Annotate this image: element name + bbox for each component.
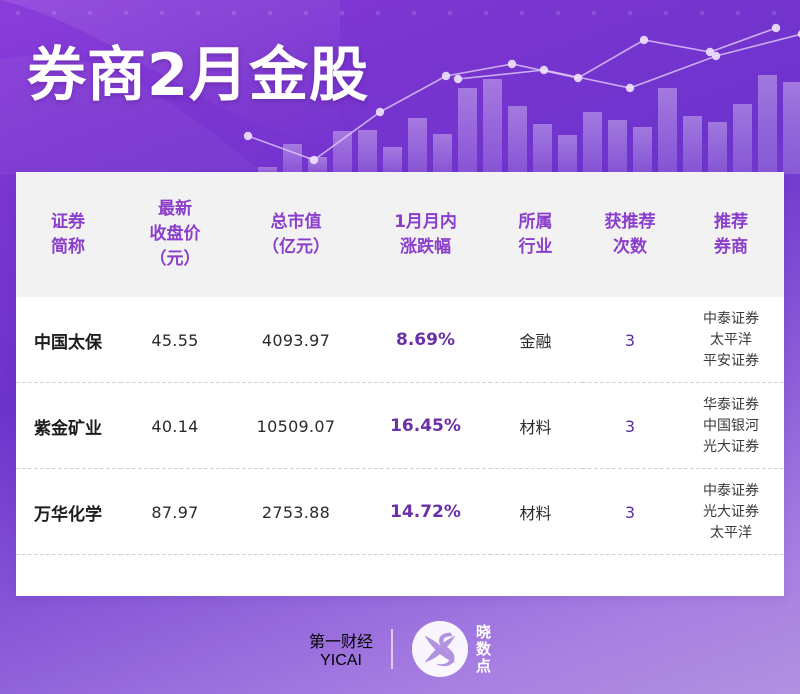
- hero-line-node: [640, 36, 648, 44]
- cell-recommendation-count: 3: [582, 297, 678, 383]
- table-body: 中国太保 45.55 4093.97 8.69% 金融 3 中泰证券 太平洋 平…: [16, 297, 784, 555]
- hero-bar: [458, 88, 477, 174]
- cell-close-price: 45.55: [120, 297, 230, 383]
- hero-line-node: [772, 24, 780, 32]
- cell-brokers: 华泰证券 中国银河 光大证券: [678, 383, 784, 469]
- cell-stock-name: 中国太保: [16, 297, 120, 383]
- table-header-row: 证券 简称 最新 收盘价 （元） 总市值 （亿元） 1月月内 涨跌幅: [16, 172, 784, 297]
- yicai-logo-text: 第一财经: [309, 628, 373, 652]
- hero-dot: [736, 11, 741, 16]
- hero-dot: [232, 11, 237, 16]
- hero-bar: [383, 147, 402, 174]
- hero-dot: [52, 11, 57, 16]
- broker-name: 平安证券: [678, 351, 784, 372]
- hero-bar: [608, 120, 627, 174]
- table-row: 万华化学 87.97 2753.88 14.72% 材料 3 中泰证券 光大证券…: [16, 469, 784, 555]
- hero-bar: [733, 104, 752, 174]
- cell-monthly-change: 16.45%: [362, 383, 489, 469]
- cell-market-cap: 2753.88: [230, 469, 362, 555]
- hero-dot: [376, 11, 381, 16]
- cell-market-cap: 10509.07: [230, 383, 362, 469]
- hero-bar: [758, 75, 777, 174]
- hero-bar: [533, 124, 552, 174]
- cell-industry: 材料: [489, 469, 582, 555]
- col-header-price: 最新 收盘价 （元）: [120, 172, 230, 297]
- hero-dot: [160, 11, 165, 16]
- broker-name: 中泰证券: [678, 481, 784, 502]
- hero-line-node: [508, 60, 516, 68]
- cell-stock-name: 紫金矿业: [16, 383, 120, 469]
- cell-recommendation-count: 3: [582, 383, 678, 469]
- table-header: 证券 简称 最新 收盘价 （元） 总市值 （亿元） 1月月内 涨跌幅: [16, 172, 784, 297]
- cell-monthly-change: 14.72%: [362, 469, 489, 555]
- hero-dot: [196, 11, 201, 16]
- hero-dot: [412, 11, 417, 16]
- hero-bar: [508, 106, 527, 174]
- broker-name: 中泰证券: [678, 309, 784, 330]
- hero-bar: [683, 116, 702, 174]
- data-card: 证券 简称 最新 收盘价 （元） 总市值 （亿元） 1月月内 涨跌幅: [16, 172, 784, 596]
- hero-bar: [783, 82, 800, 174]
- hero-bar: [658, 88, 677, 174]
- yicai-logo-subtext: YICAI: [320, 652, 362, 670]
- hero-bar: [333, 131, 352, 174]
- col-header-change: 1月月内 涨跌幅: [362, 172, 489, 297]
- xiaoshudian-char: 数: [476, 641, 491, 658]
- hero-dot: [268, 11, 273, 16]
- hero-bar: [483, 79, 502, 174]
- hero-line-node: [626, 84, 634, 92]
- xiaoshudian-label: 晓数点: [476, 624, 491, 675]
- hero-line-node: [442, 72, 450, 80]
- hero-bar: [558, 135, 577, 174]
- cell-industry: 材料: [489, 383, 582, 469]
- hero-line-node: [574, 74, 582, 82]
- yicai-logo: 第一财经 YICAI: [309, 628, 373, 670]
- hero-dot: [520, 11, 525, 16]
- col-header-market-cap: 总市值 （亿元）: [230, 172, 362, 297]
- broker-name: 光大证券: [678, 502, 784, 523]
- cell-stock-name: 万华化学: [16, 469, 120, 555]
- broker-name: 太平洋: [678, 330, 784, 351]
- hero-bar: [408, 118, 427, 174]
- hero-line-node: [244, 132, 252, 140]
- hero-dot: [484, 11, 489, 16]
- table-row: 紫金矿业 40.14 10509.07 16.45% 材料 3 华泰证券 中国银…: [16, 383, 784, 469]
- hero-dot: [16, 11, 21, 16]
- col-header-brokers: 推荐 券商: [678, 172, 784, 297]
- col-header-recommendation-count: 获推荐 次数: [582, 172, 678, 297]
- footer-divider: [391, 629, 393, 669]
- hero-dot: [448, 11, 453, 16]
- hero-bar: [433, 134, 452, 174]
- hero-dot: [88, 11, 93, 16]
- broker-name: 华泰证券: [678, 395, 784, 416]
- hero-line-node: [540, 66, 548, 74]
- hero-dot: [304, 11, 309, 16]
- cell-industry: 金融: [489, 297, 582, 383]
- xiaoshudian-char: 点: [476, 658, 491, 675]
- gold-stocks-table: 证券 简称 最新 收盘价 （元） 总市值 （亿元） 1月月内 涨跌幅: [16, 172, 784, 555]
- hero-bar: [708, 122, 727, 174]
- cell-monthly-change: 8.69%: [362, 297, 489, 383]
- infographic-page: 券商2月金股 证券 简称 最新 收盘价 （元）: [0, 0, 800, 694]
- hero-line-node: [712, 52, 720, 60]
- cell-close-price: 40.14: [120, 383, 230, 469]
- broker-name: 光大证券: [678, 437, 784, 458]
- hero-banner: 券商2月金股: [0, 0, 800, 180]
- hero-dot: [772, 11, 777, 16]
- hero-dot: [556, 11, 561, 16]
- hero-dot: [124, 11, 129, 16]
- broker-name: 中国银河: [678, 416, 784, 437]
- hero-dot: [664, 11, 669, 16]
- footer-branding: 第一财经 YICAI 晓数点: [0, 604, 800, 694]
- hero-line-node: [454, 75, 462, 83]
- hero-bar: [358, 130, 377, 174]
- hero-dot: [340, 11, 345, 16]
- hero-bar: [283, 144, 302, 174]
- cell-market-cap: 4093.97: [230, 297, 362, 383]
- col-header-name: 证券 简称: [16, 172, 120, 297]
- hero-bar: [583, 112, 602, 174]
- xiaoshudian-char: 晓: [476, 624, 491, 641]
- hero-dot: [592, 11, 597, 16]
- cell-close-price: 87.97: [120, 469, 230, 555]
- cell-recommendation-count: 3: [582, 469, 678, 555]
- xs-circle-logo-icon: [411, 620, 469, 678]
- page-title: 券商2月金股: [27, 42, 369, 108]
- hero-bar: [633, 127, 652, 174]
- table-row: 中国太保 45.55 4093.97 8.69% 金融 3 中泰证券 太平洋 平…: [16, 297, 784, 383]
- hero-line-node: [376, 108, 384, 116]
- cell-brokers: 中泰证券 光大证券 太平洋: [678, 469, 784, 555]
- cell-brokers: 中泰证券 太平洋 平安证券: [678, 297, 784, 383]
- hero-line-node: [310, 156, 318, 164]
- hero-dot: [628, 11, 633, 16]
- col-header-industry: 所属 行业: [489, 172, 582, 297]
- hero-dot: [700, 11, 705, 16]
- broker-name: 太平洋: [678, 523, 784, 544]
